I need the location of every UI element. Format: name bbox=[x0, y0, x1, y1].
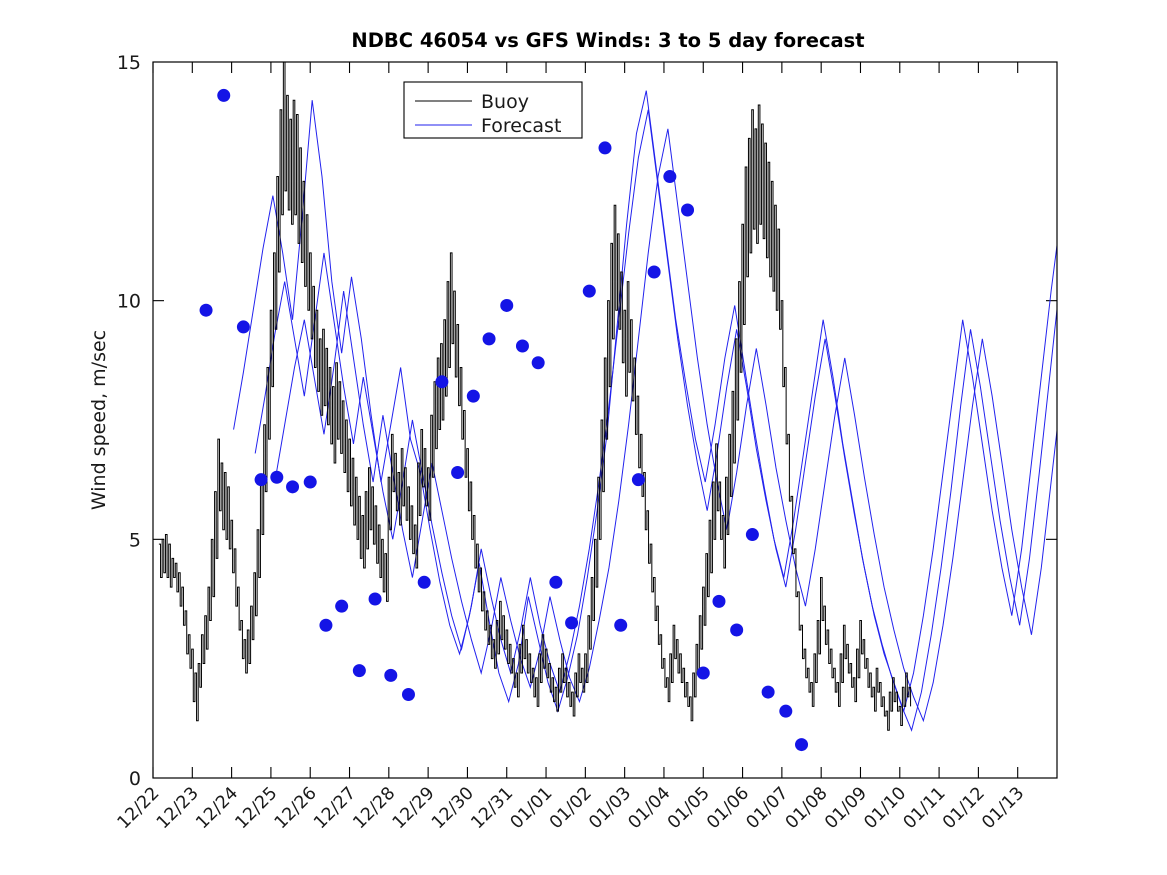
data-point-marker bbox=[353, 664, 366, 677]
data-point-marker bbox=[319, 619, 332, 632]
data-point-marker bbox=[384, 669, 397, 682]
data-point-marker bbox=[200, 304, 213, 317]
data-point-marker bbox=[648, 266, 661, 279]
data-point-marker bbox=[549, 576, 562, 589]
data-point-marker bbox=[270, 471, 283, 484]
data-point-marker bbox=[795, 738, 808, 751]
data-point-marker bbox=[681, 203, 694, 216]
legend-label-forecast: Forecast bbox=[481, 115, 561, 137]
data-point-marker bbox=[583, 285, 596, 298]
data-point-marker bbox=[565, 616, 578, 629]
data-point-marker bbox=[217, 89, 230, 102]
data-point-marker bbox=[532, 356, 545, 369]
y-tick-label: 10 bbox=[117, 291, 141, 313]
data-point-marker bbox=[614, 619, 627, 632]
y-tick-label: 0 bbox=[129, 768, 141, 790]
data-point-marker bbox=[255, 473, 268, 486]
data-point-marker bbox=[402, 688, 415, 701]
data-point-marker bbox=[237, 320, 250, 333]
data-point-marker bbox=[712, 595, 725, 608]
data-point-marker bbox=[286, 480, 299, 493]
data-point-marker bbox=[730, 624, 743, 637]
chart-title: NDBC 46054 vs GFS Winds: 3 to 5 day fore… bbox=[351, 29, 864, 52]
y-tick-label: 5 bbox=[129, 529, 141, 551]
data-point-marker bbox=[418, 576, 431, 589]
data-point-marker bbox=[632, 473, 645, 486]
data-point-marker bbox=[483, 332, 496, 345]
data-point-marker bbox=[762, 686, 775, 699]
data-point-marker bbox=[335, 600, 348, 613]
chart-legend[interactable]: Buoy Forecast bbox=[404, 82, 582, 138]
data-point-marker bbox=[467, 390, 480, 403]
data-point-marker bbox=[304, 476, 317, 489]
data-point-marker bbox=[746, 528, 759, 541]
data-point-marker bbox=[663, 170, 676, 183]
data-point-marker bbox=[779, 705, 792, 718]
y-axis-label: Wind speed, m/sec bbox=[88, 330, 110, 510]
data-point-marker bbox=[599, 141, 612, 154]
data-point-marker bbox=[500, 299, 513, 312]
y-tick-label: 15 bbox=[117, 52, 141, 74]
legend-label-buoy: Buoy bbox=[481, 91, 529, 113]
data-point-marker bbox=[697, 666, 710, 679]
figure-background bbox=[0, 0, 1167, 875]
wind-speed-timeseries-chart: NDBC 46054 vs GFS Winds: 3 to 5 day fore… bbox=[0, 0, 1167, 875]
data-point-marker bbox=[451, 466, 464, 479]
data-point-marker bbox=[435, 375, 448, 388]
chart-figure: NDBC 46054 vs GFS Winds: 3 to 5 day fore… bbox=[0, 0, 1167, 875]
data-point-marker bbox=[369, 593, 382, 606]
data-point-marker bbox=[516, 340, 529, 353]
